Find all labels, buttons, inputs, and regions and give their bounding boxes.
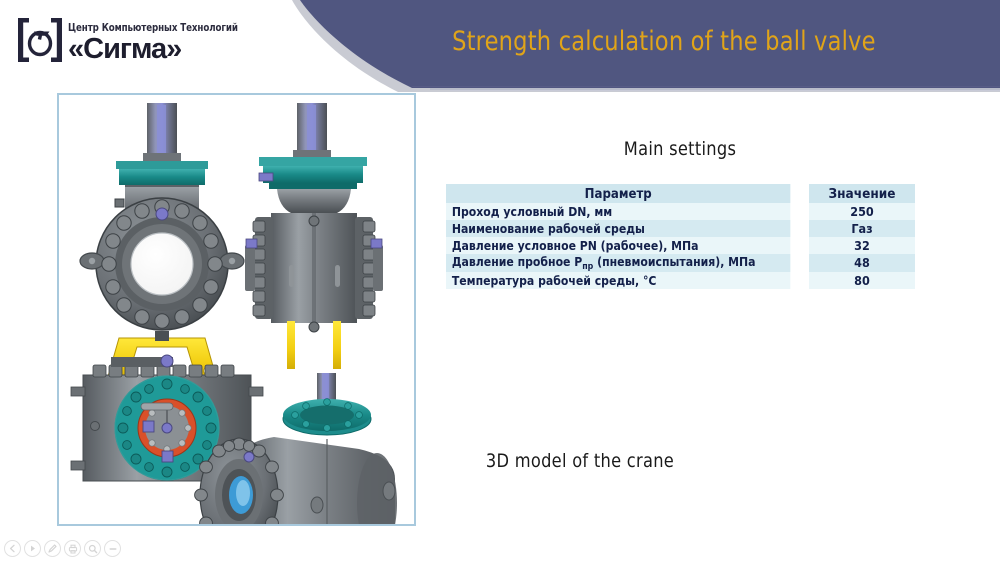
cell-parameter: Температура рабочей среды, °С <box>446 272 790 289</box>
pencil-icon[interactable] <box>44 540 61 557</box>
row-gap <box>801 220 809 237</box>
cell-value: 250 <box>809 203 915 220</box>
printer-icon[interactable] <box>64 540 81 557</box>
cell-value: 80 <box>809 272 915 289</box>
cell-value: 48 <box>809 254 915 272</box>
minus-icon[interactable] <box>104 540 121 557</box>
logo-tagline: Центр Компьютерных Технологий <box>68 22 238 34</box>
row-gap <box>801 254 809 272</box>
main-settings-caption: Main settings <box>528 138 832 160</box>
sigma-bracket-icon <box>14 16 66 64</box>
row-gap <box>801 203 809 220</box>
table-row: Давление пробное Рпр (пневмоиспытания), … <box>446 254 915 272</box>
table-row: Проход условный DN, мм250 <box>446 203 915 220</box>
table-header-row: Параметр Значение <box>446 184 915 203</box>
front-view-group <box>80 103 244 380</box>
company-logo: Центр Компьютерных Технологий «Сигма» <box>14 16 253 64</box>
search-icon[interactable] <box>84 540 101 557</box>
row-gap <box>801 272 809 289</box>
cell-parameter: Проход условный DN, мм <box>446 203 790 220</box>
column-header-value: Значение <box>809 184 915 203</box>
row-gap <box>801 237 809 254</box>
cell-parameter: Давление пробное Рпр (пневмоиспытания), … <box>446 254 790 272</box>
parameter-tail-text: (пневмоиспытания), МПа <box>593 254 755 269</box>
cell-value: Газ <box>809 220 915 237</box>
valve-drawings-panel[interactable] <box>57 93 416 526</box>
presentation-control-bar[interactable] <box>4 540 121 557</box>
slide-canvas: Strength calculation of the ball valve Ц… <box>0 0 1000 563</box>
parameter-text: Давление пробное Р <box>452 254 582 269</box>
table-row: Наименование рабочей средыГаз <box>446 220 915 237</box>
cell-value: 32 <box>809 237 915 254</box>
parameter-subscript: пр <box>582 262 593 272</box>
logo-company-name: «Сигма» <box>68 34 253 64</box>
column-header-parameter: Параметр <box>446 184 790 203</box>
parameters-table: Параметр Значение Проход условный DN, мм… <box>446 184 915 289</box>
play-icon[interactable] <box>24 540 41 557</box>
cell-parameter: Наименование рабочей среды <box>446 220 790 237</box>
page-title: Strength calculation of the ball valve <box>450 26 878 57</box>
side-view-group <box>245 103 383 369</box>
cell-parameter: Давление условное PN (рабочее), МПа <box>446 237 790 254</box>
table-row: Температура рабочей среды, °С80 <box>446 272 915 289</box>
table-row: Давление условное PN (рабочее), МПа32 <box>446 237 915 254</box>
model-caption: 3D model of the crane <box>409 450 751 472</box>
column-gap <box>801 184 809 203</box>
back-icon[interactable] <box>4 540 21 557</box>
